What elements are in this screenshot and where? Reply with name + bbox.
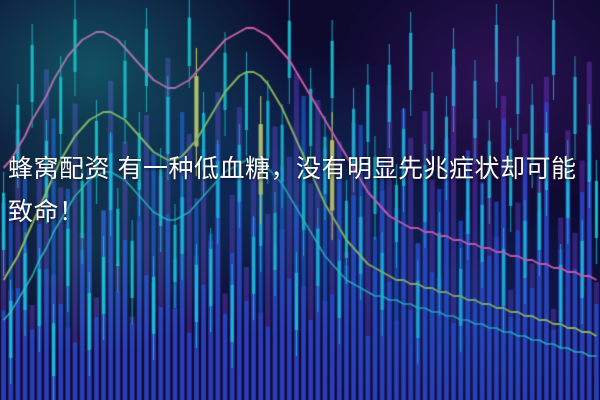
chart-image: 蜂窝配资 有一种低血糖，没有明显先兆症状却可能致命！ [0,0,600,400]
headline-text: 蜂窝配资 有一种低血糖，没有明显先兆症状却可能致命！ [0,148,600,234]
